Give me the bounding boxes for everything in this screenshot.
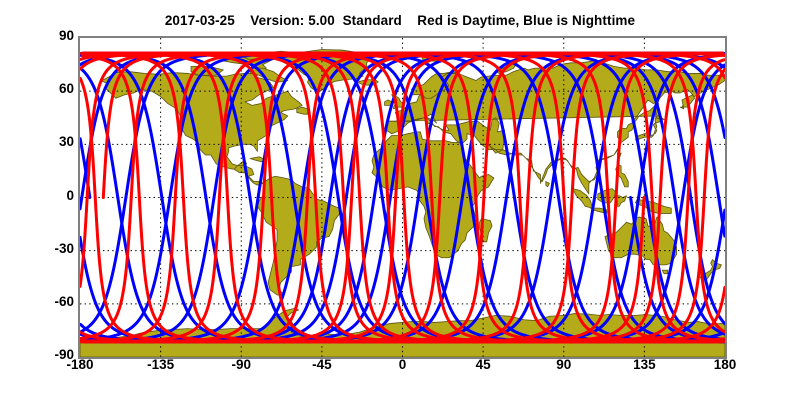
y-tick-60: 60	[34, 82, 74, 96]
x-tick-minus135: -135	[147, 358, 174, 372]
figure-title: 2017-03-25 Version: 5.00 Standard Red is…	[0, 13, 800, 28]
plot-area	[78, 36, 727, 359]
plot-canvas	[80, 38, 725, 357]
y-tick-0: 0	[34, 189, 74, 203]
landmass-newfoundland	[297, 107, 308, 114]
ground-track-canvas	[80, 38, 725, 357]
x-tick-90: 90	[556, 358, 571, 372]
y-tick-minus60: -60	[34, 295, 74, 309]
x-tick-0: 0	[399, 358, 407, 372]
x-tick-135: 135	[633, 358, 656, 372]
x-tick-minus180: -180	[66, 358, 93, 372]
y-tick-90: 90	[34, 29, 74, 43]
x-tick-180: 180	[714, 358, 737, 372]
y-tick-30: 30	[34, 135, 74, 149]
x-axis-tick-labels: -180-135-90-4504590135180	[0, 358, 800, 378]
x-tick-minus45: -45	[312, 358, 332, 372]
ground-track-map-figure: 2017-03-25 Version: 5.00 Standard Red is…	[0, 0, 800, 400]
x-tick-minus90: -90	[231, 358, 251, 372]
y-tick-minus30: -30	[34, 242, 74, 256]
y-axis-tick-labels: 9060300-30-60-90	[28, 36, 74, 355]
x-tick-45: 45	[476, 358, 491, 372]
